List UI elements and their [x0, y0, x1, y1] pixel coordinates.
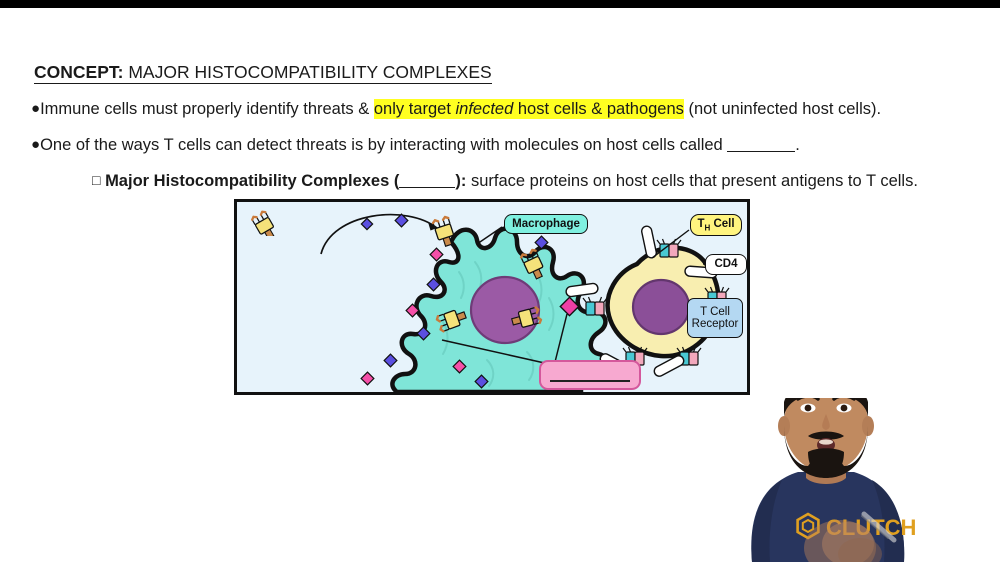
highlight-italic: infected: [456, 100, 514, 118]
bullet-item-3: □ Major Histocompatibility Complexes ():…: [92, 172, 918, 190]
bullet-marker: ●: [31, 100, 40, 117]
pointer-arrow-curve: [321, 215, 437, 254]
label-macrophage: Macrophage: [504, 214, 588, 234]
label-mhc-callout: Major Histocompatibility Complex (): [237, 392, 401, 395]
answer-blank-box: [539, 360, 641, 390]
bullet-1-post: (not uninfected host cells).: [684, 100, 881, 118]
label-t-cell-receptor: T Cell Receptor: [687, 298, 743, 338]
tcr-left: [583, 297, 607, 315]
presenter-video: CLUTCH: [648, 398, 1000, 562]
presenter-figure: CLUTCH: [648, 398, 1000, 562]
bullet-3-post: surface proteins on host cells that pres…: [466, 172, 918, 190]
bullet-3-bold-pre: Major Histocompatibility Complexes (: [105, 172, 399, 190]
mhc-icon: [251, 210, 277, 236]
cd4-top: [641, 225, 657, 258]
bullet-2-pre: One of the ways T cells can detect threa…: [40, 136, 727, 154]
highlight-pre: only target: [374, 100, 456, 118]
fill-in-blank: [727, 138, 795, 152]
bullet-marker: ●: [31, 136, 40, 153]
concept-title: MAJOR HISTOCOMPATIBILITY COMPLEXES: [123, 62, 491, 82]
bullet-3-bold-post: ):: [455, 172, 466, 190]
diagram-canvas: [237, 202, 747, 392]
bullet-1-pre: Immune cells must properly identify thre…: [40, 100, 374, 118]
highlight-post: host cells & pathogens: [513, 100, 684, 118]
bullet-2-post: .: [795, 136, 800, 154]
page-title: CONCEPT: MAJOR HISTOCOMPATIBILITY COMPLE…: [34, 62, 492, 83]
bullet-item-2: ●One of the ways T cells can detect thre…: [31, 136, 800, 154]
label-cd4: CD4: [705, 254, 747, 275]
answer-underline: [550, 380, 630, 382]
mhc-diagram: Macrophage TH Cell CD4 T Cell Receptor M…: [234, 199, 750, 395]
tcr-top: [657, 239, 681, 257]
th-cell-text: TH Cell: [697, 218, 734, 233]
tcr-line-2: Receptor: [692, 318, 739, 330]
fill-in-blank: [399, 174, 455, 188]
highlight-span: only target infected host cells & pathog…: [374, 99, 684, 119]
bullet-item-1: ●Immune cells must properly identify thr…: [31, 100, 881, 118]
label-th-cell: TH Cell: [690, 214, 742, 236]
concept-label: CONCEPT:: [34, 62, 123, 82]
bullet-marker: □: [92, 172, 100, 188]
tcr-line-1: T Cell: [700, 306, 730, 318]
t-cell-nucleus: [633, 280, 689, 334]
top-letterbox-bar: [0, 0, 1000, 8]
